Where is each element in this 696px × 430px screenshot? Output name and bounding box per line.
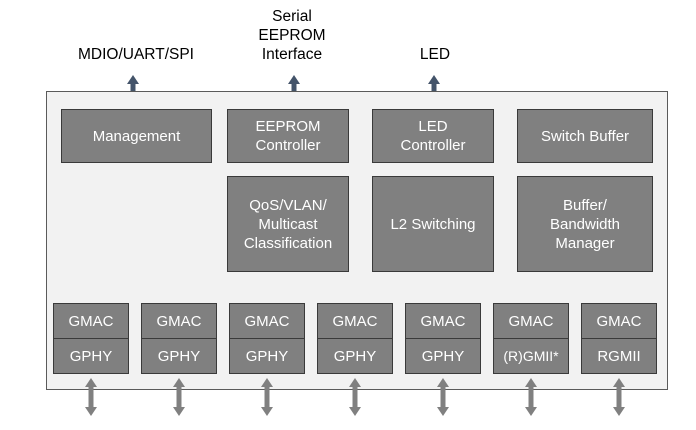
block-eeprom-controller[interactable]: EEPROM Controller <box>227 109 349 163</box>
port-4-mac[interactable]: GMAC <box>317 303 393 339</box>
port-6-phy[interactable]: (R)GMII* <box>493 338 569 374</box>
chip-boundary: Management EEPROM Controller LED Control… <box>46 91 668 390</box>
arrow-port-2 <box>170 377 188 417</box>
external-label-led: LED <box>375 45 495 64</box>
port-column-7: GMAC RGMII <box>581 303 657 375</box>
arrow-port-6 <box>522 377 540 417</box>
port-column-2: GMAC GPHY <box>141 303 217 375</box>
port-6-mac[interactable]: GMAC <box>493 303 569 339</box>
block-qos-vlan-multicast-classification[interactable]: QoS/VLAN/ Multicast Classification <box>227 176 349 272</box>
port-1-mac[interactable]: GMAC <box>53 303 129 339</box>
block-l2-switching[interactable]: L2 Switching <box>372 176 494 272</box>
port-7-phy[interactable]: RGMII <box>581 338 657 374</box>
port-7-mac[interactable]: GMAC <box>581 303 657 339</box>
port-3-phy[interactable]: GPHY <box>229 338 305 374</box>
external-label-mdio-uart-spi: MDIO/UART/SPI <box>46 45 226 64</box>
port-2-phy[interactable]: GPHY <box>141 338 217 374</box>
block-buffer-bandwidth-manager[interactable]: Buffer/ Bandwidth Manager <box>517 176 653 272</box>
block-switch-buffer[interactable]: Switch Buffer <box>517 109 653 163</box>
port-column-4: GMAC GPHY <box>317 303 393 375</box>
port-column-1: GMAC GPHY <box>53 303 129 375</box>
arrow-port-5 <box>434 377 452 417</box>
block-led-controller[interactable]: LED Controller <box>372 109 494 163</box>
port-column-3: GMAC GPHY <box>229 303 305 375</box>
arrow-port-1 <box>82 377 100 417</box>
external-label-serial-eeprom-interface: Serial EEPROM Interface <box>232 7 352 64</box>
port-1-phy[interactable]: GPHY <box>53 338 129 374</box>
port-column-6: GMAC (R)GMII* <box>493 303 569 375</box>
arrow-port-7 <box>610 377 628 417</box>
port-2-mac[interactable]: GMAC <box>141 303 217 339</box>
arrow-port-3 <box>258 377 276 417</box>
block-management[interactable]: Management <box>61 109 212 163</box>
port-3-mac[interactable]: GMAC <box>229 303 305 339</box>
arrow-port-4 <box>346 377 364 417</box>
port-4-phy[interactable]: GPHY <box>317 338 393 374</box>
port-5-mac[interactable]: GMAC <box>405 303 481 339</box>
port-column-5: GMAC GPHY <box>405 303 481 375</box>
port-5-phy[interactable]: GPHY <box>405 338 481 374</box>
